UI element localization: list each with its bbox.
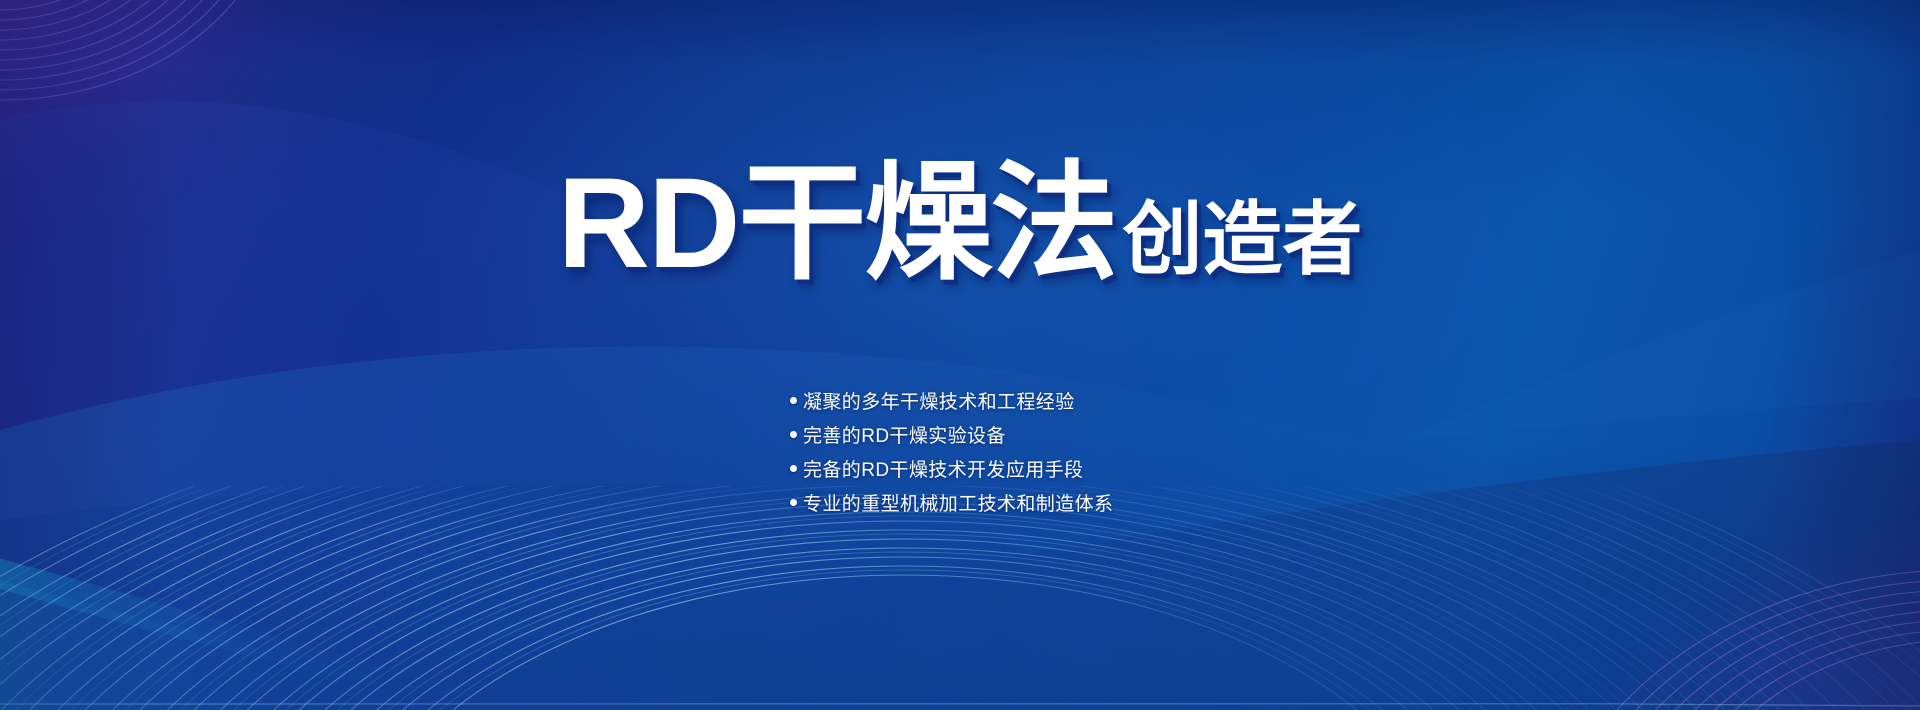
banner-content: RD干燥法创造者 凝聚的多年干燥技术和工程经验 完善的RD干燥实验设备 完备的R… — [0, 0, 1920, 710]
bullet-dot-icon — [790, 465, 797, 472]
bullet-dot-icon — [790, 397, 797, 404]
feature-bullet-list: 凝聚的多年干燥技术和工程经验 完善的RD干燥实验设备 完备的RD干燥技术开发应用… — [790, 383, 1113, 519]
bullet-text: 完备的RD干燥技术开发应用手段 — [803, 455, 1083, 482]
headline: RD干燥法创造者 — [0, 160, 1920, 288]
list-item: 完备的RD干燥技术开发应用手段 — [790, 451, 1113, 485]
bullet-text: 专业的重型机械加工技术和制造体系 — [803, 489, 1113, 516]
headline-main-text: RD干燥法 — [558, 152, 1117, 295]
headline-sub-text: 创造者 — [1122, 195, 1362, 284]
bullet-text: 完善的RD干燥实验设备 — [803, 421, 1006, 448]
bullet-dot-icon — [790, 431, 797, 438]
list-item: 专业的重型机械加工技术和制造体系 — [790, 485, 1113, 519]
bullet-text: 凝聚的多年干燥技术和工程经验 — [803, 387, 1075, 414]
list-item: 完善的RD干燥实验设备 — [790, 417, 1113, 451]
bullet-dot-icon — [790, 499, 797, 506]
list-item: 凝聚的多年干燥技术和工程经验 — [790, 383, 1113, 417]
hero-banner: RD干燥法创造者 凝聚的多年干燥技术和工程经验 完善的RD干燥实验设备 完备的R… — [0, 0, 1920, 710]
